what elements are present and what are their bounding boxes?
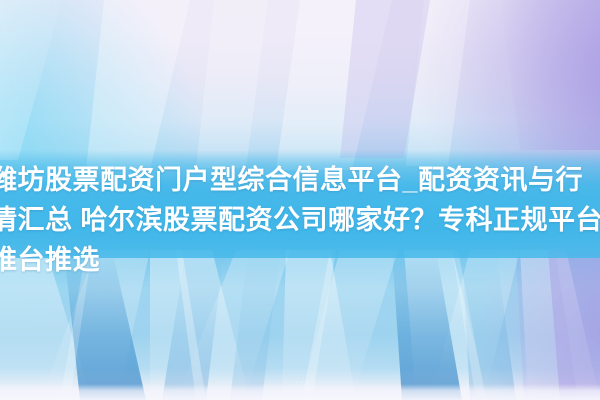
hero-banner: 潍坊股票配资门户型综合信息平台_配资资讯与行情汇总 哈尔滨股票配资公司哪家好？专… bbox=[0, 0, 600, 400]
headline-container: 潍坊股票配资门户型综合信息平台_配资资讯与行情汇总 哈尔滨股票配资公司哪家好？专… bbox=[0, 160, 600, 290]
watermark-text: ... bbox=[268, 372, 338, 388]
page-title: 潍坊股票配资门户型综合信息平台_配资资讯与行情汇总 哈尔滨股票配资公司哪家好？专… bbox=[0, 160, 600, 280]
